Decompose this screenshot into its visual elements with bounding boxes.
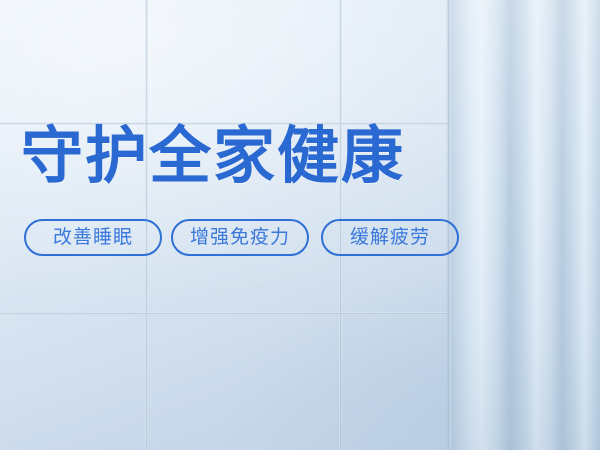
banner-content: 守护全家健康 改善睡眠 增强免疫力 缓解疲劳 xyxy=(0,0,600,450)
headline-text: 守护全家健康 xyxy=(21,124,405,190)
benefit-tag-relieve-fatigue[interactable]: 缓解疲劳 xyxy=(321,219,459,256)
promo-banner: 守护全家健康 改善睡眠 增强免疫力 缓解疲劳 xyxy=(0,0,600,450)
benefit-tag-boost-immunity[interactable]: 增强免疫力 xyxy=(171,219,309,256)
benefit-tag-row: 改善睡眠 增强免疫力 缓解疲劳 xyxy=(24,219,459,256)
benefit-tag-improve-sleep[interactable]: 改善睡眠 xyxy=(24,219,162,256)
